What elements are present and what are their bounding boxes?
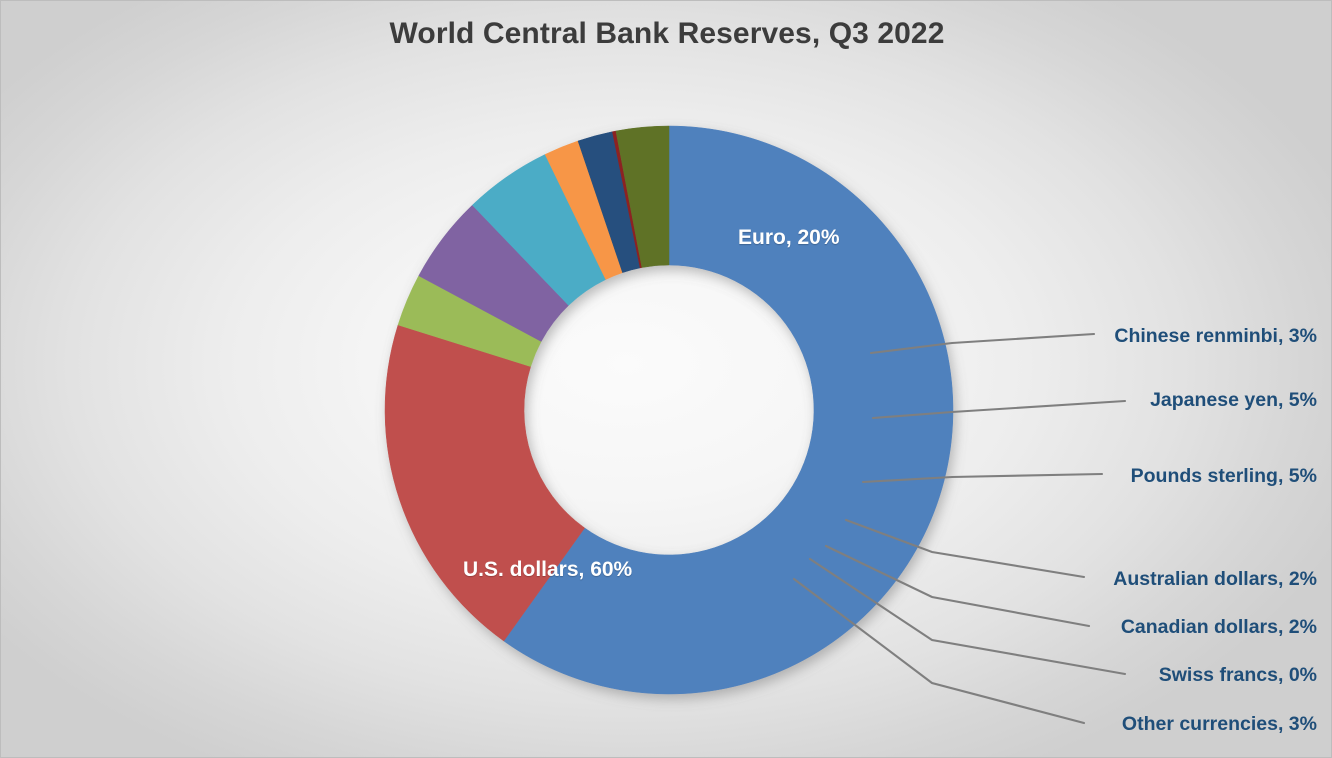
donut-slices: [385, 126, 953, 694]
slice-label-euro: Euro, 20%: [738, 226, 840, 250]
callout-label-other-currencies: Other currencies, 3%: [1122, 713, 1317, 736]
callout-label-japanese-yen: Japanese yen, 5%: [1150, 389, 1317, 412]
callout-label-swiss-francs: Swiss francs, 0%: [1159, 664, 1317, 687]
callout-label-pounds-sterling: Pounds sterling, 5%: [1131, 465, 1317, 488]
callout-label-canadian-dollars: Canadian dollars, 2%: [1121, 616, 1317, 639]
slice-label-us-dollars: U.S. dollars, 60%: [463, 558, 632, 582]
chart-canvas: World Central Bank Reserves, Q3 2022: [0, 0, 1332, 758]
callout-label-australian-dollars: Australian dollars, 2%: [1113, 568, 1317, 591]
callout-label-chinese-renminbi: Chinese renminbi, 3%: [1114, 325, 1317, 348]
donut-chart-svg: [1, 1, 1332, 758]
donut-chart: [1, 1, 1332, 758]
